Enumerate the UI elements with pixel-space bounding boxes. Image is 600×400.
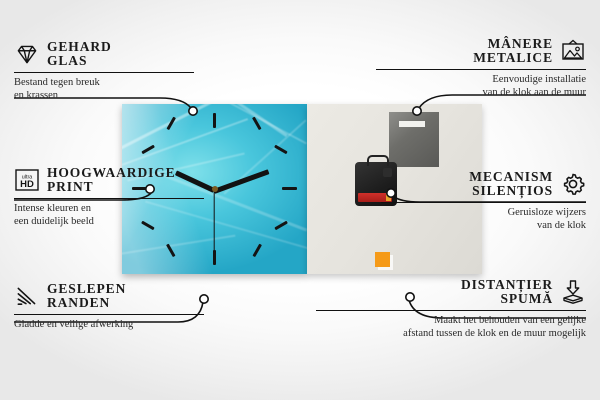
ultra-hd-icon: ultra HD: [14, 167, 40, 193]
feature-description-line-1: Intense kleuren en: [14, 202, 204, 216]
second-hand: [213, 190, 214, 252]
feature-divider: [376, 69, 586, 70]
feature-title-line-1: HOOGWAARDIGE: [47, 166, 176, 180]
hand-hub: [212, 186, 218, 192]
infographic-canvas: GEHARD GLAS Bestand tegen breuk en krass…: [0, 0, 600, 400]
feature-hoogwaardige-print: ultra HD HOOGWAARDIGE PRINT Intense kleu…: [14, 166, 204, 229]
feature-divider: [381, 202, 586, 203]
feature-description-line-2: afstand tussen de klok en de muur mogeli…: [316, 327, 586, 341]
feature-mecanism-silentios: MECANISM SILENȚIOS Geruisloze wijzers va…: [381, 170, 586, 233]
metal-hanger-part: [389, 112, 439, 167]
feature-description-line-2: van de klok: [381, 219, 586, 233]
svg-text:HD: HD: [20, 179, 34, 190]
foam-spacer-part: [375, 252, 390, 267]
feature-description-line-2: en krassen: [14, 89, 194, 103]
feature-title-line-2: PRINT: [47, 180, 176, 194]
gear-icon: [560, 171, 586, 197]
feature-title-line-2: SPUMĂ: [501, 292, 554, 306]
feature-title-line-2: RANDEN: [47, 296, 126, 310]
picture-frame-hanger-icon: [560, 38, 586, 64]
feature-description-line-1: Geruisloze wijzers: [381, 206, 586, 220]
feature-title-line-1: GESLEPEN: [47, 282, 126, 296]
feature-description-line-1: Eenvoudige installatie: [376, 73, 586, 87]
feature-divider: [14, 314, 204, 315]
feature-title-line-1: DISTANȚIER: [461, 278, 553, 292]
feature-divider: [316, 310, 586, 311]
feature-manere-metalice: MÂNERE METALICE Eenvoudige installatie v…: [376, 37, 586, 100]
feature-description-line-1: Gladde en veilige afwerking: [14, 318, 204, 332]
feature-description-line-2: van de klok aan de muur: [376, 86, 586, 100]
feature-divider: [14, 72, 194, 73]
feature-gehard-glas: GEHARD GLAS Bestand tegen breuk en krass…: [14, 40, 194, 103]
feature-distantier-spuma: DISTANȚIER SPUMĂ Maakt het behouden van …: [316, 278, 586, 341]
minute-hand: [213, 169, 269, 193]
feature-title-line-2: METALICE: [473, 51, 553, 65]
down-arrow-pad-icon: [560, 279, 586, 305]
feature-description-line-1: Maakt het behouden van een gelijke: [316, 314, 586, 328]
feature-title-line-2: GLAS: [47, 54, 112, 68]
feature-title-line-2: SILENȚIOS: [472, 184, 553, 198]
feature-title-line-1: MECANISM: [469, 170, 553, 184]
bevelled-edges-icon: [14, 283, 40, 309]
feature-title-line-1: GEHARD: [47, 40, 112, 54]
feature-title-line-1: MÂNERE: [488, 37, 553, 51]
feature-geslepen-randen: GESLEPEN RANDEN Gladde en veilige afwerk…: [14, 282, 204, 331]
diamond-icon: [14, 41, 40, 67]
feature-description-line-1: Bestand tegen breuk: [14, 76, 194, 90]
feature-divider: [14, 198, 204, 199]
feature-description-line-2: een duidelijk beeld: [14, 215, 204, 229]
